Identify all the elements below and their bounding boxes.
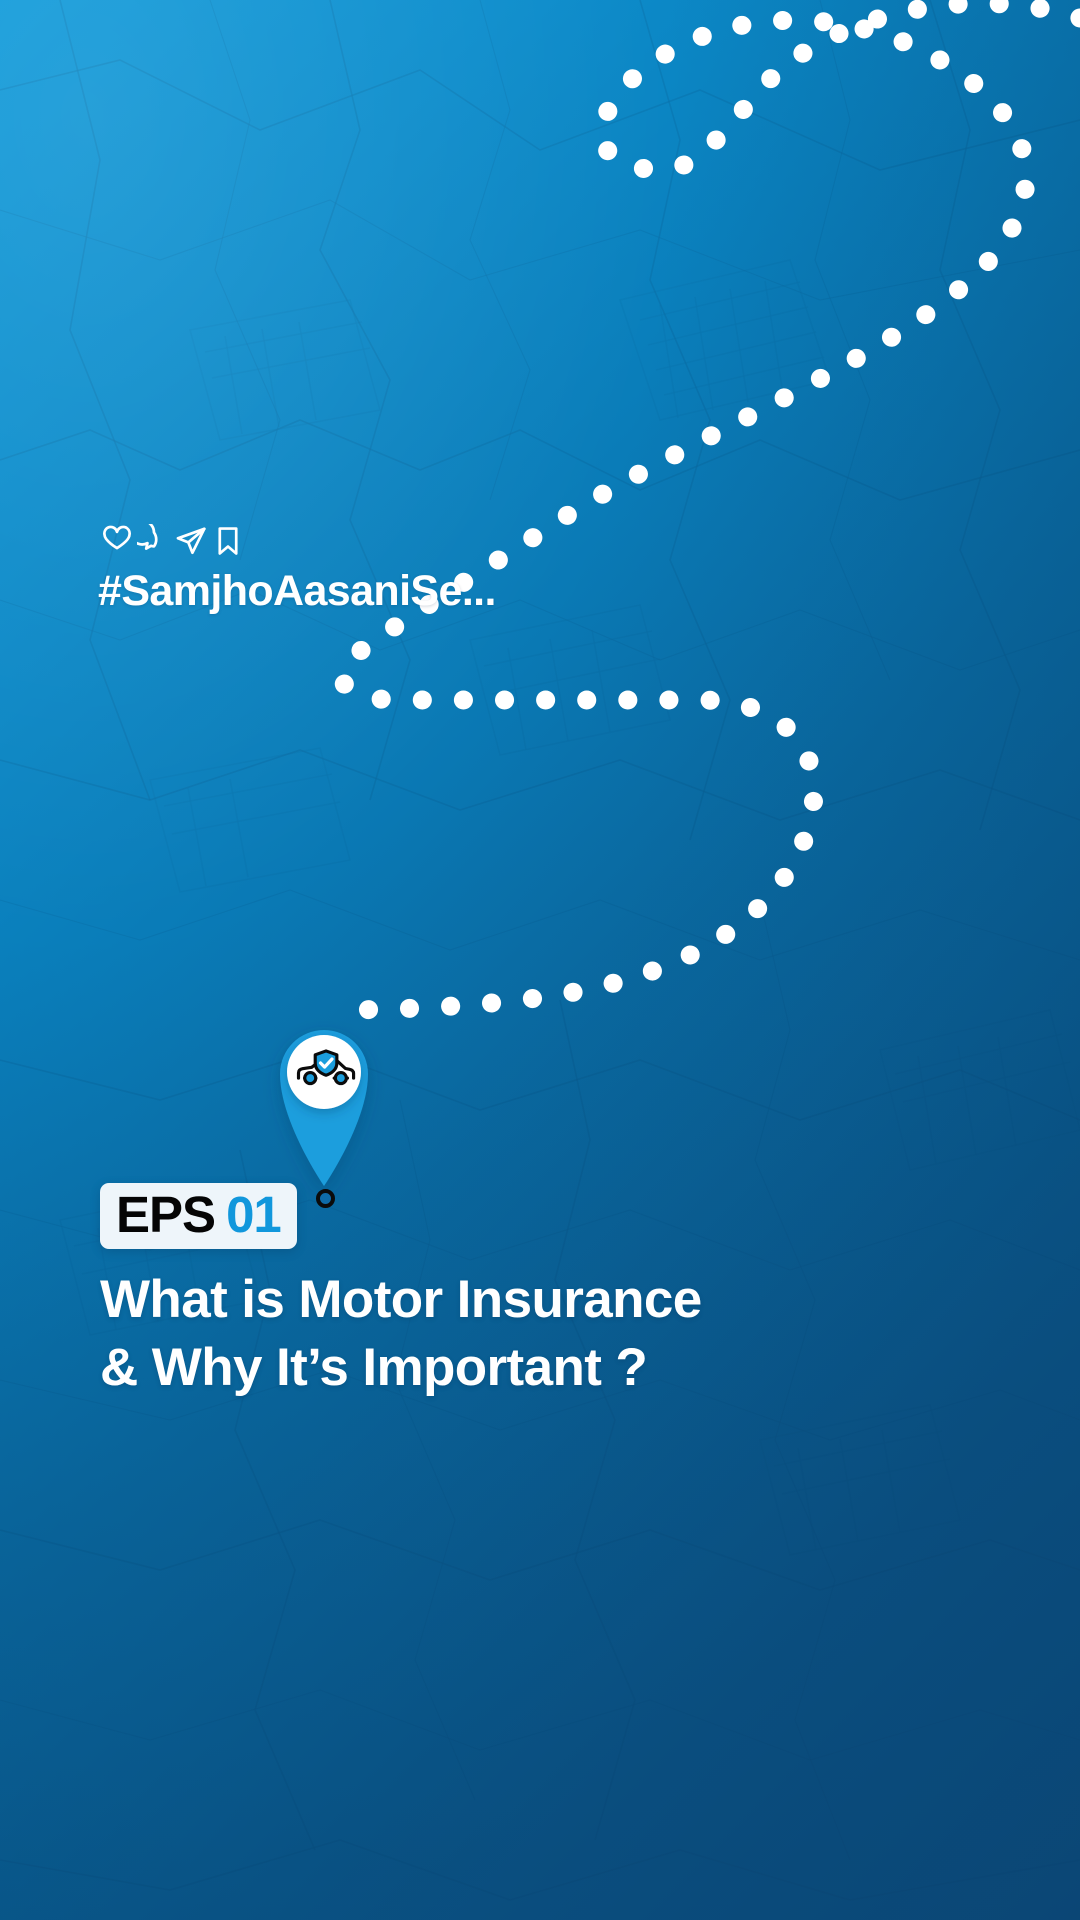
headline-line-1: What is Motor Insurance [100, 1272, 702, 1327]
episode-number: 01 [226, 1189, 281, 1240]
dotted-route-path [0, 0, 1080, 1920]
vignette-overlay [0, 0, 1080, 1920]
headline-line-2: & Why It’s Important ? [100, 1340, 702, 1395]
social-actions-row [100, 524, 245, 563]
hashtag-text: #SamjhoAasaniSe... [98, 567, 496, 616]
heart-icon[interactable] [100, 524, 134, 563]
headline-block: What is Motor Insurance & Why It’s Impor… [100, 1272, 702, 1395]
route-endpoint-dot [316, 1189, 335, 1208]
map-pin-marker [272, 1018, 376, 1186]
share-icon[interactable] [174, 524, 208, 563]
episode-badge: EPS 01 [100, 1183, 297, 1249]
comment-icon[interactable] [137, 524, 171, 563]
map-texture-background [0, 0, 1080, 1920]
bookmark-icon[interactable] [211, 524, 245, 563]
poster-canvas: #SamjhoAasaniSe... [0, 0, 1080, 1920]
episode-prefix: EPS [116, 1189, 215, 1240]
